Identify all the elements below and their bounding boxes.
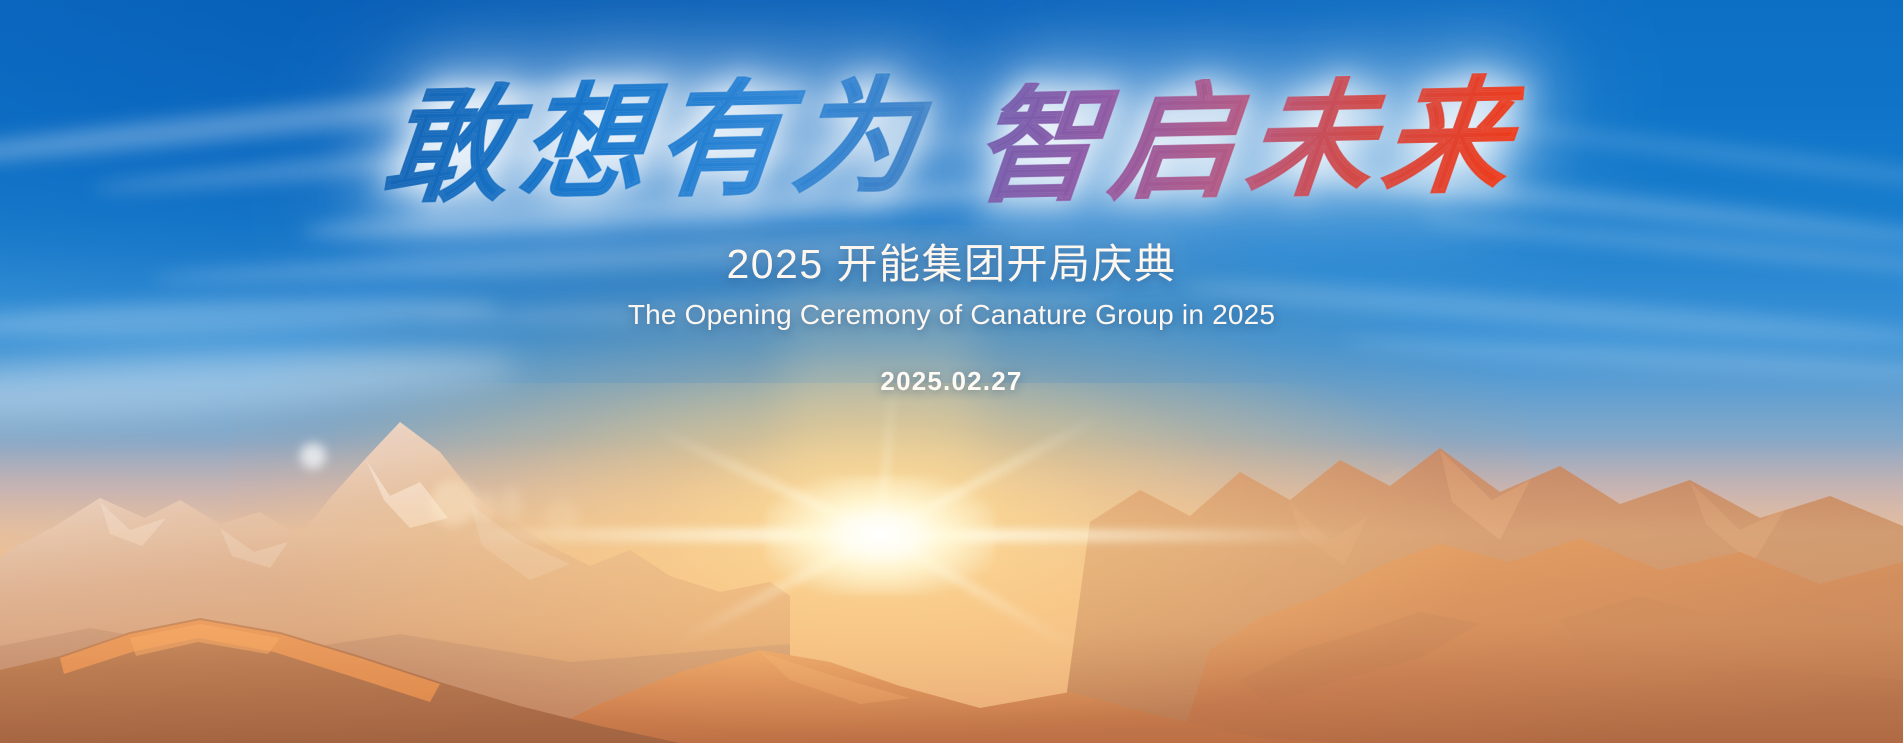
headline-phrase-one: 敢想有为: [377, 72, 935, 209]
lens-flare-dot: [500, 486, 522, 522]
event-banner: 敢想有为 智启未来 2025 开能集团开局庆典 The Opening Cere…: [0, 0, 1903, 743]
headline-calligraphy: 敢想有为 智启未来: [385, 78, 1519, 204]
mountain-peak-sun-glint: [300, 443, 326, 469]
lens-flare-dot: [545, 500, 579, 534]
subtitle-english: The Opening Ceremony of Canature Group i…: [628, 299, 1275, 331]
sun-core: [765, 475, 995, 595]
event-date: 2025.02.27: [880, 366, 1022, 397]
lens-flare-dot: [468, 492, 498, 522]
headline-phrase-two: 智启未来: [967, 72, 1525, 209]
subtitle-chinese: 2025 开能集团开局庆典: [726, 230, 1176, 290]
